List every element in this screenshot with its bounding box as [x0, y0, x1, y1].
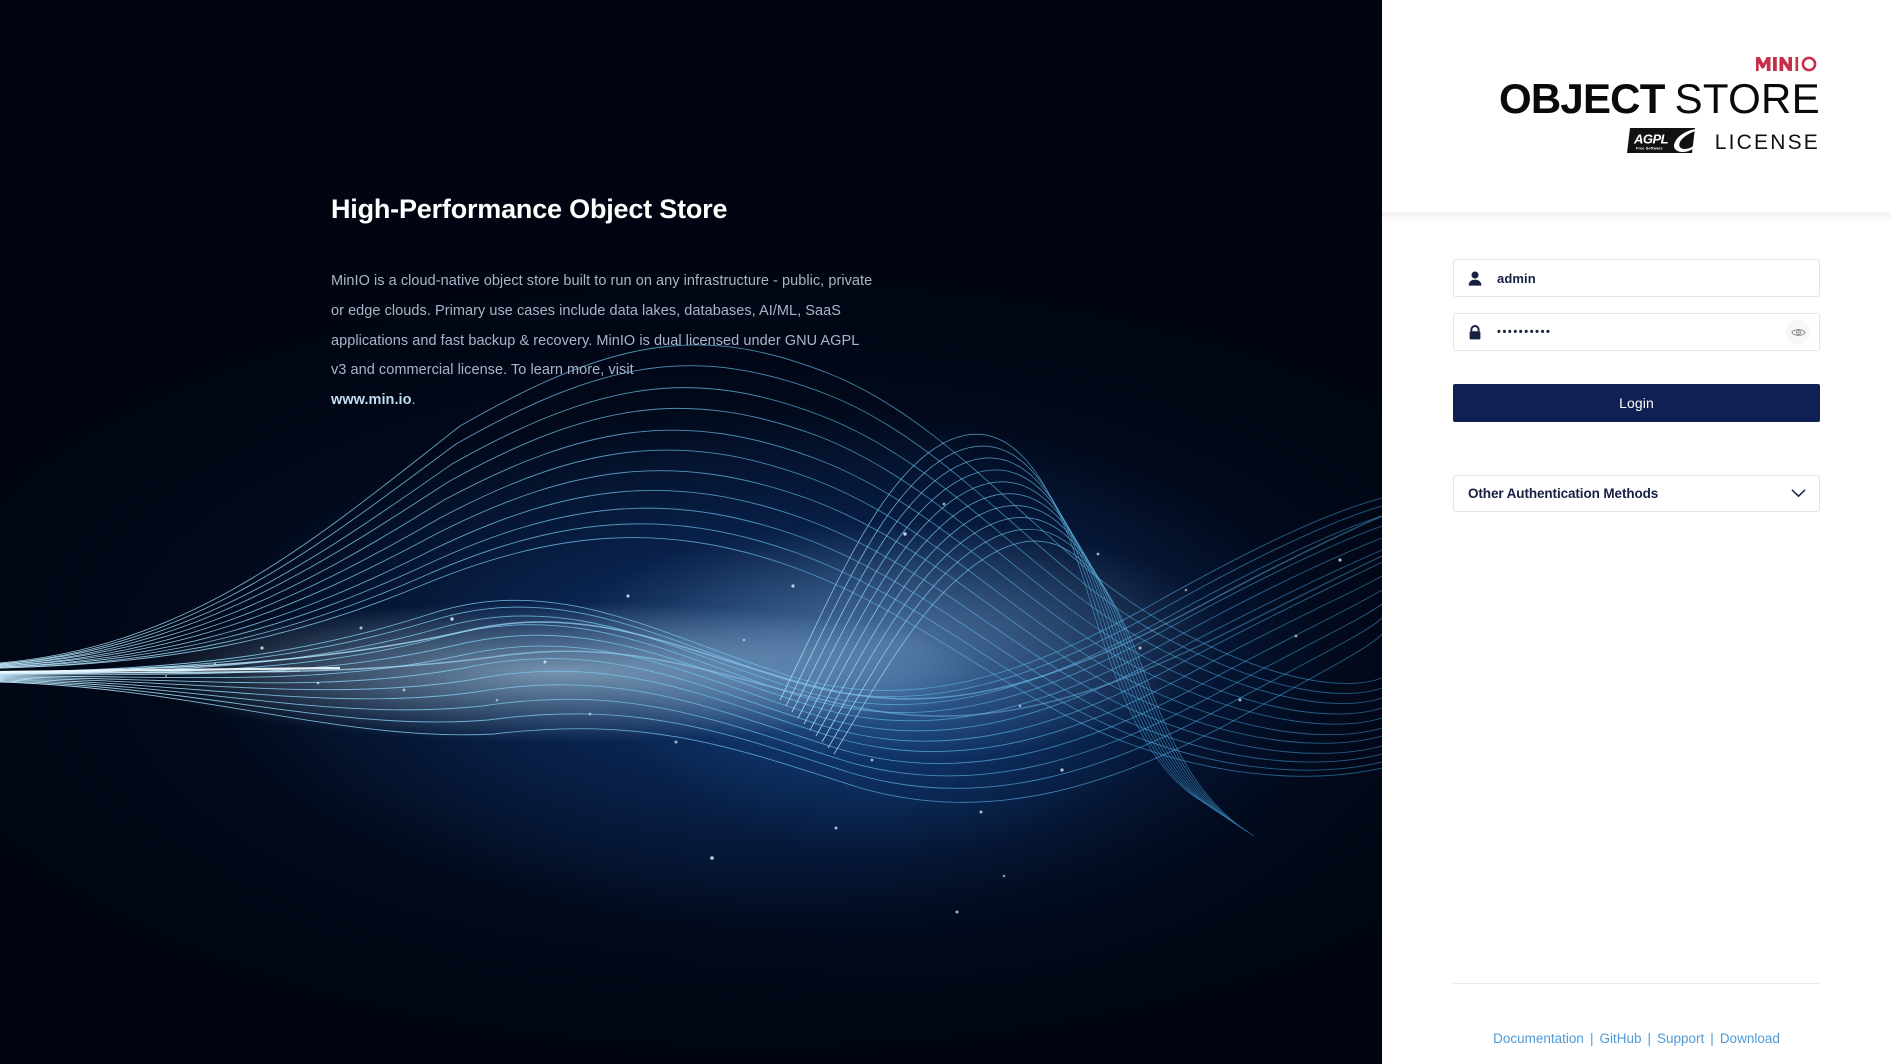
minio-wordmark — [1756, 53, 1818, 75]
footer-link-github[interactable]: GitHub — [1599, 1031, 1641, 1046]
login-form: admin •••••••••• Login Other Authenticat… — [1382, 259, 1891, 512]
brand-title-light: STORE — [1675, 78, 1820, 120]
svg-text:3: 3 — [1682, 135, 1689, 149]
other-auth-methods-label: Other Authentication Methods — [1468, 486, 1658, 501]
brand-title: OBJECT STORE — [1499, 78, 1820, 120]
person-icon — [1467, 270, 1483, 286]
agpl-badge-icon: AGPL Free Software 3 — [1627, 127, 1703, 159]
hero-description-text: MinIO is a cloud-native object store bui… — [331, 273, 872, 378]
hero-panel: High-Performance Object Store MinIO is a… — [0, 0, 1382, 1064]
license-label: LICENSE — [1715, 131, 1820, 155]
footer-divider — [1453, 983, 1820, 984]
footer-link-documentation[interactable]: Documentation — [1493, 1031, 1584, 1046]
chevron-down-icon — [1791, 485, 1806, 503]
minio-website-link-suffix: . — [412, 392, 416, 408]
license-line: AGPL Free Software 3 LICENSE — [1627, 127, 1820, 159]
footer-separator-1: | — [1590, 1031, 1594, 1046]
footer-separator-3: | — [1710, 1031, 1714, 1046]
login-panel: OBJECT STORE AGPL Free Software 3 LICENS… — [1382, 0, 1891, 1064]
brand-header: OBJECT STORE AGPL Free Software 3 LICENS… — [1382, 0, 1891, 212]
brand-title-bold: OBJECT — [1499, 78, 1665, 120]
header-divider — [1382, 212, 1891, 222]
other-auth-methods-accordion[interactable]: Other Authentication Methods — [1453, 475, 1820, 512]
username-field[interactable]: admin — [1453, 259, 1820, 297]
footer-separator-2: | — [1647, 1031, 1651, 1046]
hero-content: High-Performance Object Store MinIO is a… — [331, 193, 891, 415]
footer-link-download[interactable]: Download — [1720, 1031, 1780, 1046]
login-button[interactable]: Login — [1453, 384, 1820, 422]
username-value: admin — [1497, 271, 1536, 286]
hero-description: MinIO is a cloud-native object store bui… — [331, 267, 876, 415]
minio-website-link[interactable]: www.min.io. — [331, 386, 876, 416]
footer-links: Documentation | GitHub | Support | Downl… — [1453, 1031, 1820, 1046]
footer-link-support[interactable]: Support — [1657, 1031, 1704, 1046]
password-value: •••••••••• — [1497, 326, 1552, 338]
svg-text:AGPL: AGPL — [1633, 132, 1669, 147]
password-field[interactable]: •••••••••• — [1453, 313, 1820, 351]
page-title: High-Performance Object Store — [331, 193, 891, 225]
wave-graphic — [0, 0, 1382, 1064]
minio-website-link-label: www.min.io — [331, 392, 412, 408]
lock-icon — [1467, 324, 1483, 340]
eye-icon[interactable] — [1786, 320, 1810, 344]
svg-text:Free Software: Free Software — [1636, 147, 1663, 151]
footer: Documentation | GitHub | Support | Downl… — [1382, 983, 1891, 1064]
